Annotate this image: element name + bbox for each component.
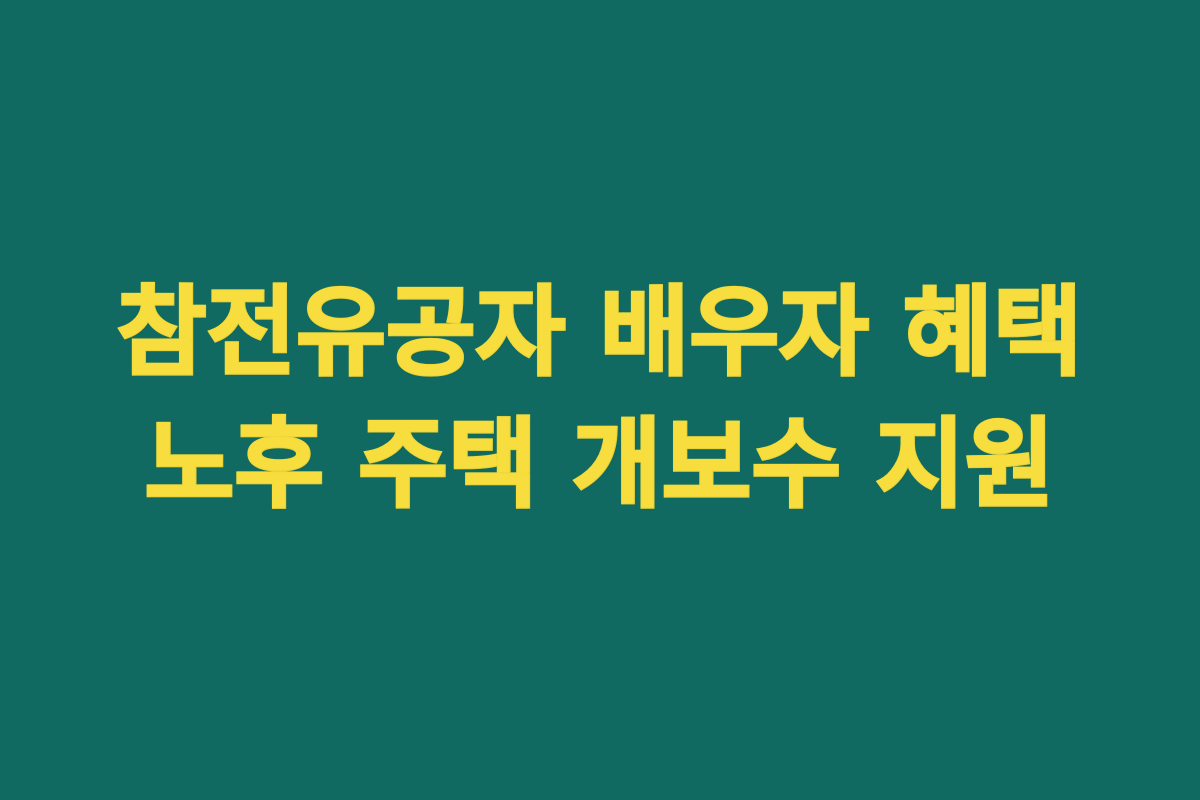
- headline-block: 참전유공자 배우자 혜택 노후 주택 개보수 지원: [0, 267, 1200, 531]
- headline-line-1: 참전유공자 배우자 혜택: [0, 267, 1200, 399]
- thumbnail-card: 참전유공자 배우자 혜택 노후 주택 개보수 지원: [0, 0, 1200, 800]
- headline-line-2: 노후 주택 개보수 지원: [0, 399, 1200, 531]
